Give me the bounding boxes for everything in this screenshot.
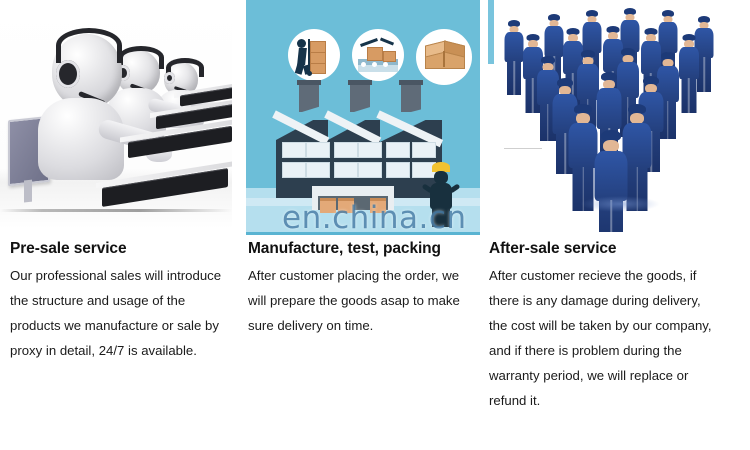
workforce-photo — [488, 0, 740, 232]
window — [334, 162, 358, 178]
description-line: After customer recieve the goods, if — [489, 263, 739, 288]
worker-figure-front — [594, 130, 628, 232]
window — [412, 142, 436, 158]
window — [282, 142, 306, 158]
worker-figure — [504, 20, 524, 96]
description-line: the cost will be taken by our company, — [489, 313, 739, 338]
hairline — [504, 148, 542, 149]
cardboard-box-icon — [416, 29, 472, 85]
service-column-manufacture — [246, 0, 480, 232]
window — [358, 142, 382, 158]
chimney-cap — [399, 80, 423, 85]
call-center-photo — [0, 0, 232, 228]
window — [306, 142, 330, 158]
crate — [338, 198, 354, 213]
description-line: there is any damage during delivery, — [489, 288, 739, 313]
description-line: warranty period, we will replace or — [489, 363, 739, 388]
window — [306, 162, 330, 178]
window — [282, 162, 306, 178]
description-line: After customer placing the order, we — [248, 263, 483, 288]
crate — [320, 198, 336, 213]
conveyor-assembly-icon — [352, 29, 404, 81]
accent-rule — [246, 232, 480, 235]
description-line: and if there is problem during the — [489, 338, 739, 363]
ground-shadow — [580, 196, 660, 212]
description-line: products we manufacture or sale by — [10, 313, 240, 338]
hand-truck-delivery-icon — [288, 29, 340, 81]
window — [386, 162, 410, 178]
description-line: proxy in detail, 24/7 is available. — [10, 338, 240, 363]
description-manufacture: After customer placing the order, we wil… — [248, 263, 483, 338]
window — [334, 142, 358, 158]
worker-figure — [678, 34, 699, 114]
service-info-banner: Pre-sale service Our professional sales … — [0, 0, 750, 450]
factory-illustration — [246, 0, 480, 232]
description-line: refund it. — [489, 388, 739, 413]
description-after-sale: After customer recieve the goods, if the… — [489, 263, 739, 413]
page-title-after-sale: After-sale service — [489, 240, 616, 258]
service-column-pre-sale — [0, 0, 232, 228]
page-title-manufacture: Manufacture, test, packing — [248, 240, 441, 258]
description-line: Our professional sales will introduce — [10, 263, 240, 288]
accent-edge — [488, 0, 494, 64]
floor-line — [0, 209, 232, 212]
description-line: will prepare the goods asap to make — [248, 288, 483, 313]
window — [358, 162, 382, 178]
description-line: the structure and usage of the — [10, 288, 240, 313]
description-line: sure delivery on time. — [248, 313, 483, 338]
window — [386, 142, 410, 158]
chimney-cap — [297, 80, 321, 85]
crate — [370, 198, 386, 213]
service-column-after-sale — [488, 0, 740, 232]
chimney-cap — [348, 80, 372, 85]
page-title-pre-sale: Pre-sale service — [10, 240, 126, 258]
description-pre-sale: Our professional sales will introduce th… — [10, 263, 240, 363]
